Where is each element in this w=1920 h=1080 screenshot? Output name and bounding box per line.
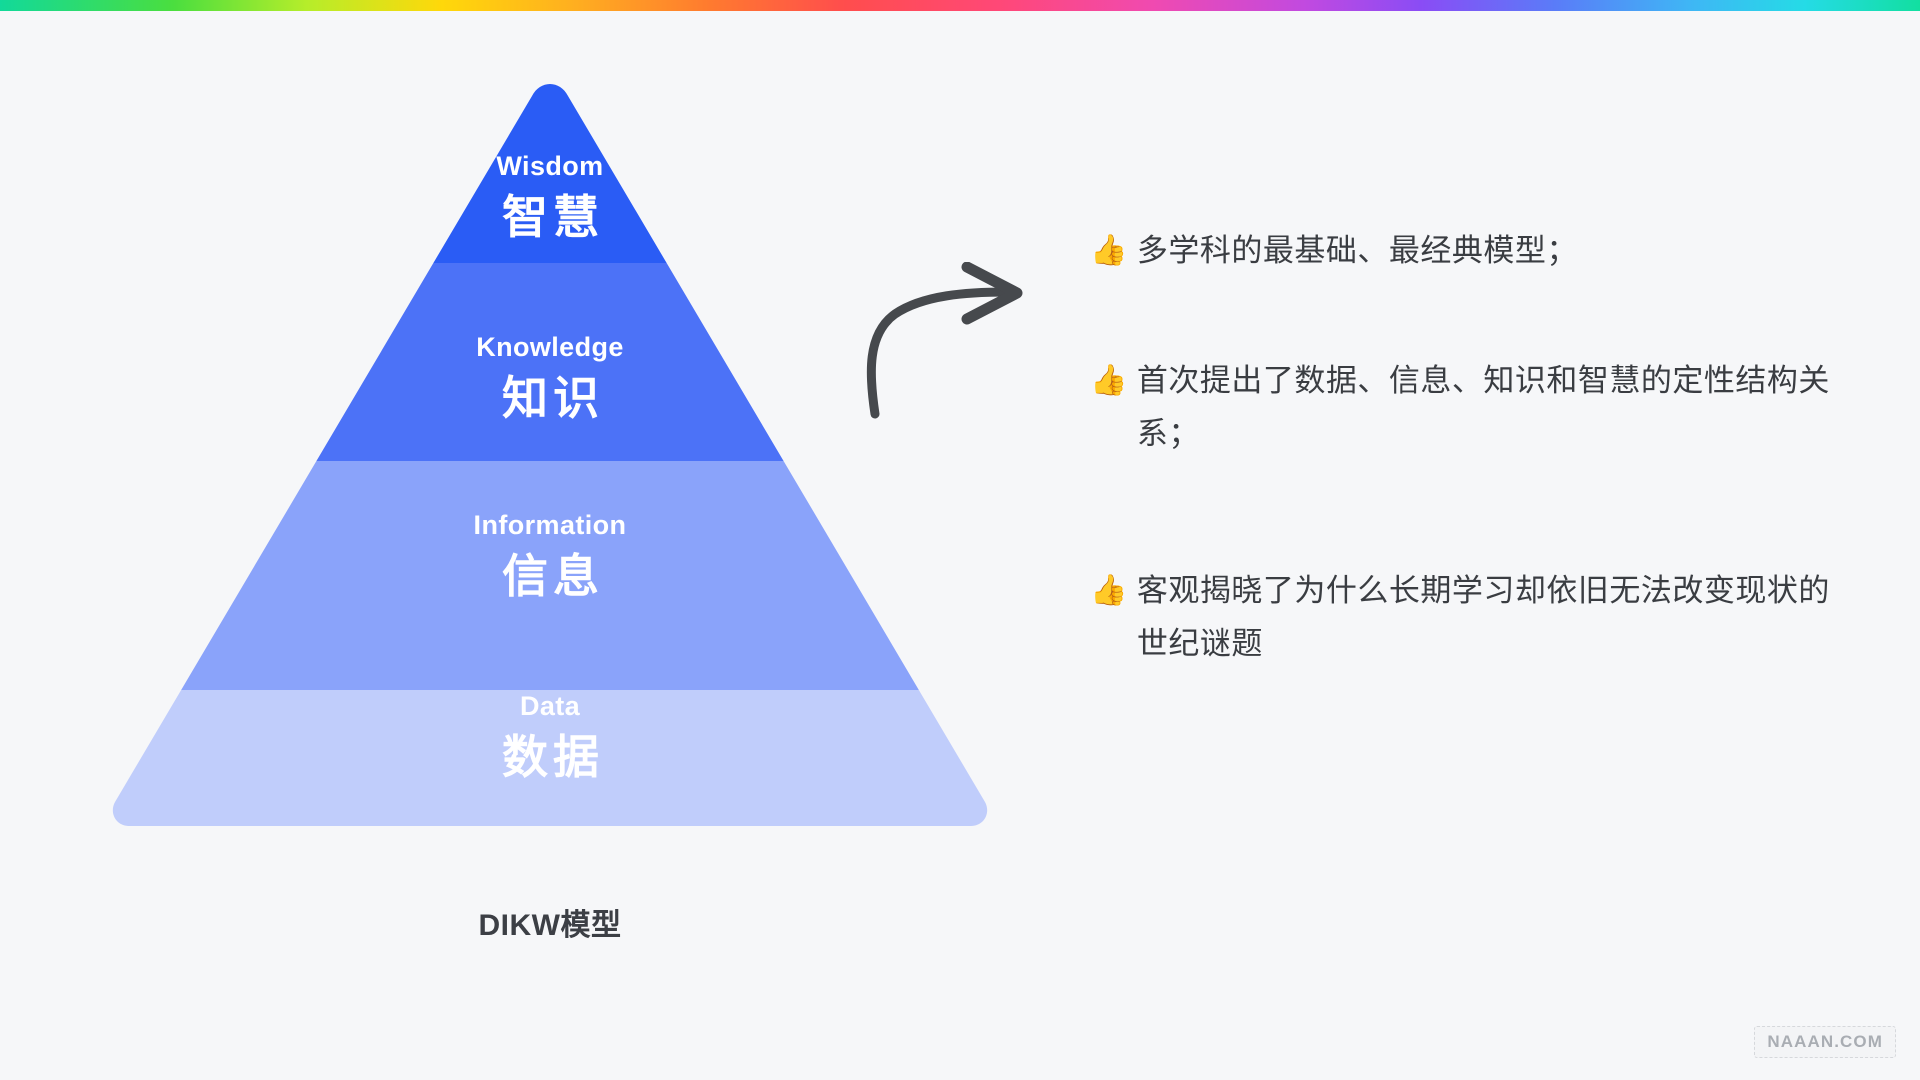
tier-label-en-information: Information (474, 510, 627, 540)
thumbs-up-icon: 👍 (1090, 354, 1128, 407)
thumbs-up-icon: 👍 (1090, 224, 1128, 277)
tier-label-cn-data: 数据 (502, 731, 604, 783)
list-item-text: 首次提出了数据、信息、知识和智慧的定性结构关系； (1137, 354, 1830, 460)
tier-label-en-data: Data (520, 691, 581, 721)
tier-label-cn-knowledge: 知识 (502, 372, 604, 424)
pyramid-svg: Wisdom 智慧 Knowledge 知识 Information 信息 Da… (105, 78, 995, 868)
site-watermark: NAAAN.COM (1754, 1026, 1896, 1058)
tier-label-cn-wisdom: 智慧 (502, 191, 604, 243)
list-item-text: 客观揭晓了为什么长期学习却依旧无法改变现状的世纪谜题 (1137, 564, 1830, 670)
pyramid-caption: DIKW模型 (105, 900, 995, 944)
slide-canvas: Wisdom 智慧 Knowledge 知识 Information 信息 Da… (0, 0, 1920, 1080)
tier-label-en-knowledge: Knowledge (476, 332, 624, 362)
tier-label-en-wisdom: Wisdom (496, 151, 603, 181)
curved-arrow-svg (855, 262, 1085, 422)
decorative-gradient-bar (0, 0, 1920, 11)
list-item: 👍 多学科的最基础、最经典模型； (1090, 224, 1830, 277)
curved-right-arrow (855, 262, 1085, 422)
dikw-pyramid: Wisdom 智慧 Knowledge 知识 Information 信息 Da… (105, 78, 995, 868)
thumbs-up-icon: 👍 (1090, 564, 1128, 617)
tier-label-cn-information: 信息 (502, 550, 604, 602)
list-item-text: 多学科的最基础、最经典模型； (1137, 224, 1830, 277)
list-item: 👍 客观揭晓了为什么长期学习却依旧无法改变现状的世纪谜题 (1090, 564, 1830, 670)
list-item: 👍 首次提出了数据、信息、知识和智慧的定性结构关系； (1090, 354, 1830, 460)
